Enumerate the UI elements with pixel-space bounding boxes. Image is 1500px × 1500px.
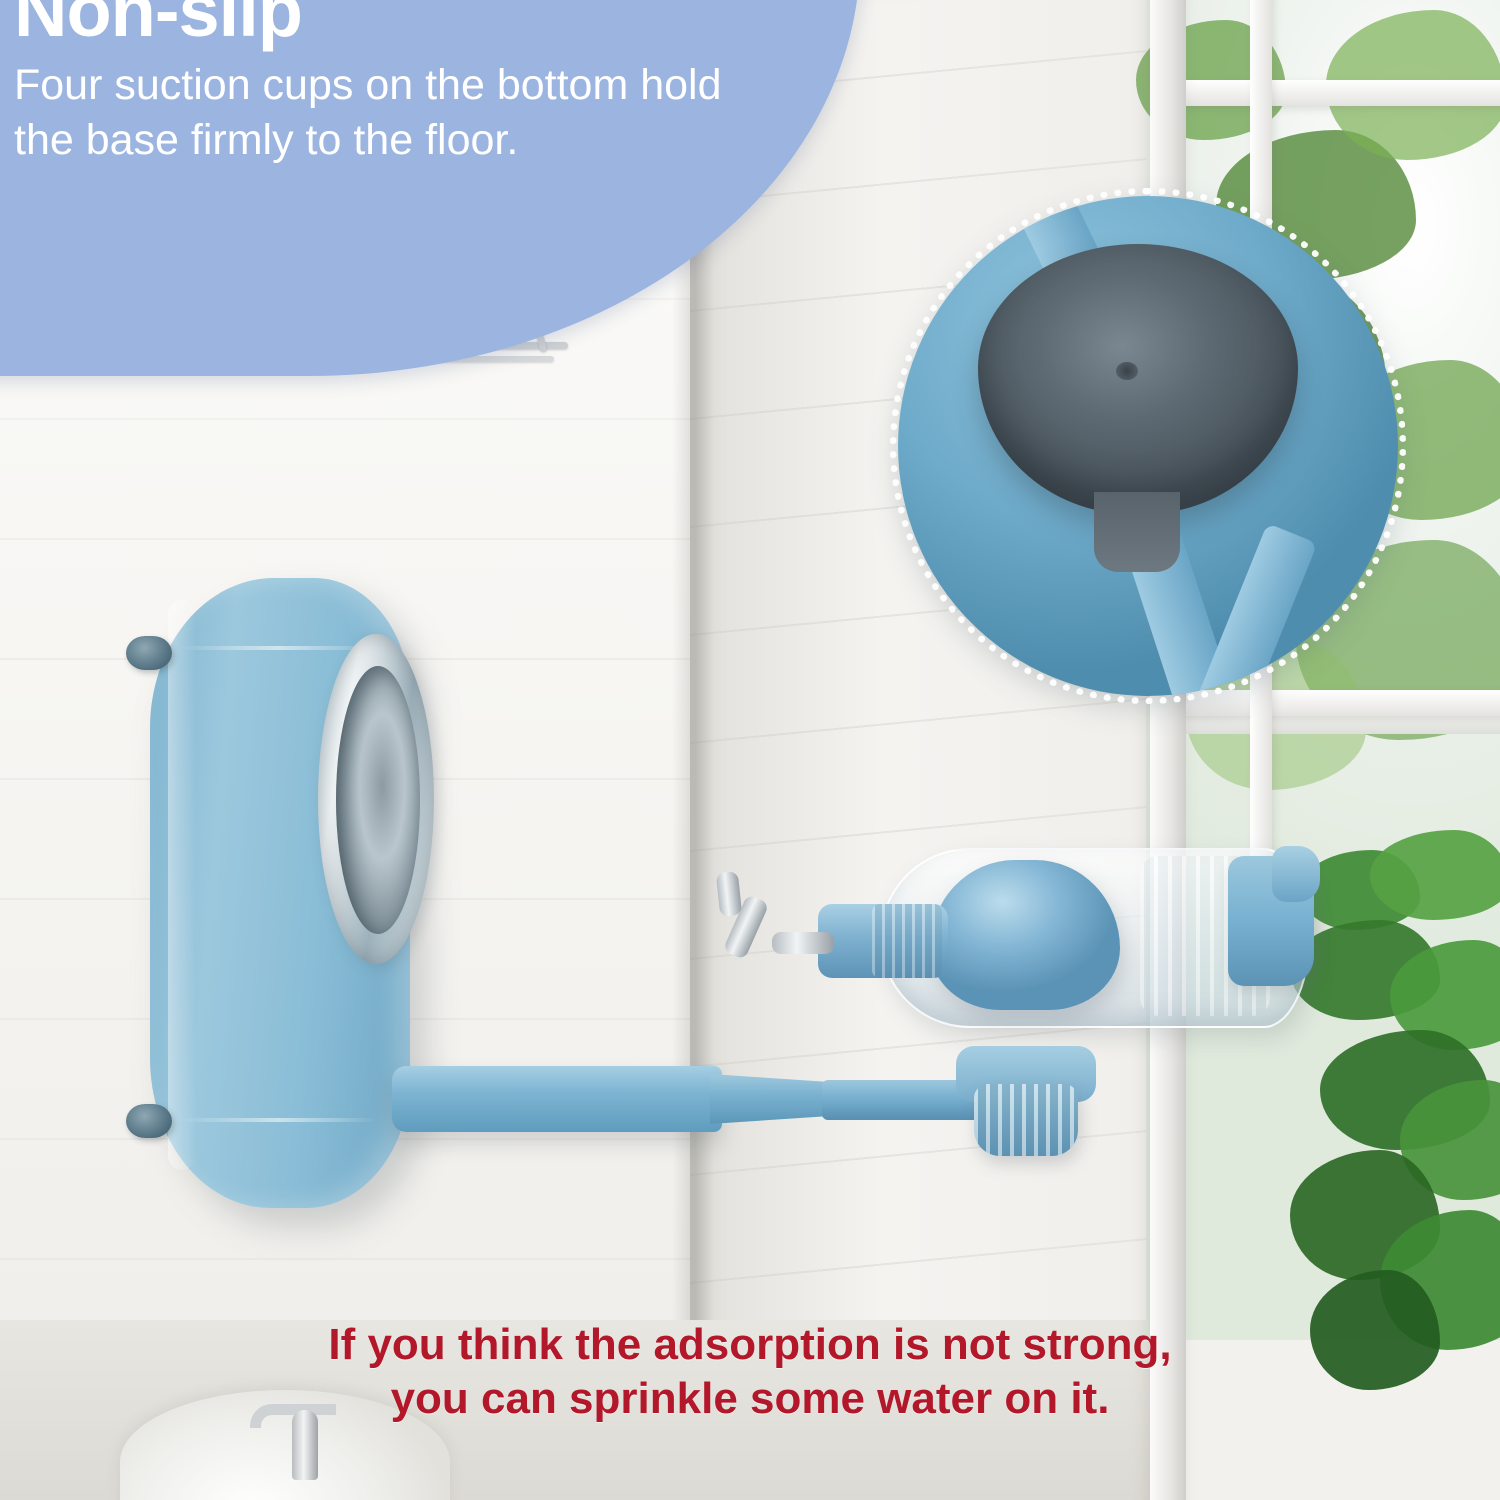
collar-threads xyxy=(872,904,942,978)
feature-callout-text: Non-slip Four suction cups on the bottom… xyxy=(14,0,784,168)
suction-cup-top-icon xyxy=(126,636,172,670)
zoom-callout-dotted-ring xyxy=(890,188,1406,704)
bottle-cap-tab xyxy=(1272,846,1320,902)
product-photo-scene: Non-slip Four suction cups on the bottom… xyxy=(0,0,1500,1500)
bracket-seam-bottom xyxy=(178,1118,378,1122)
metal-spray-spout xyxy=(712,866,832,976)
bracket-highlight xyxy=(168,600,196,1170)
valve-knob xyxy=(974,1084,1078,1156)
bracket-rim-inner xyxy=(336,666,420,934)
bottom-caption-line1: If you think the adsorption is not stron… xyxy=(0,1318,1500,1372)
houseplant xyxy=(1290,830,1500,1390)
feature-title: Non-slip xyxy=(14,0,784,48)
feature-description: Four suction cups on the bottom hold the… xyxy=(14,58,784,168)
bracket-seam-top xyxy=(178,646,378,650)
suction-cup-bottom-icon xyxy=(126,1104,172,1138)
wand-tube xyxy=(392,1066,722,1132)
product-wand-arm xyxy=(392,1052,952,1140)
window-mullion-top xyxy=(1178,80,1500,106)
bottom-caption: If you think the adsorption is not stron… xyxy=(0,1318,1500,1425)
bottom-caption-line2: you can sprinkle some water on it. xyxy=(0,1372,1500,1426)
nozzle-dome-head xyxy=(930,860,1120,1010)
wand-taper xyxy=(710,1074,830,1124)
